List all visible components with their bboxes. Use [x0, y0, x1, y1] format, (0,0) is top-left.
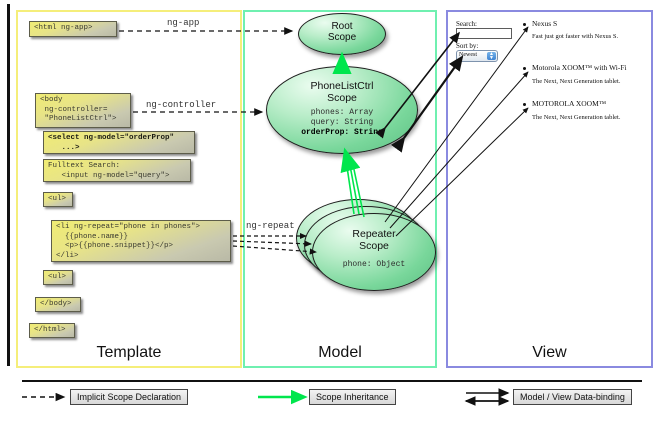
- edge-label-ng-controller: ng-controller: [146, 100, 216, 110]
- legend-label-scope-inheritance: Scope Inheritance: [309, 389, 396, 405]
- code-box-ul-close: <ul>: [43, 270, 73, 285]
- sort-by-selected-value: Newest: [459, 52, 477, 58]
- left-rail-divider: [7, 4, 10, 366]
- code-box-select-tag: <select ng-model="orderProp" ...>: [43, 131, 195, 154]
- view-sort-label: Sort by:: [456, 42, 478, 50]
- phone-item-name[interactable]: MOTOROLA XOOM™: [532, 99, 606, 108]
- scope-root-title-2: Scope: [299, 32, 385, 43]
- legend-label-implicit-scope-declaration: Implicit Scope Declaration: [70, 389, 188, 405]
- edge-label-ng-repeat: ng-repeat: [246, 221, 295, 231]
- legend-glyph-model-view-data-binding: [466, 393, 508, 401]
- scope-repeater-prop-phone: phone: Object: [313, 260, 435, 270]
- code-box-html-close: </html>: [29, 323, 75, 338]
- scope-repeater-title-2: Scope: [313, 240, 435, 252]
- phone-item-name[interactable]: Nexus S: [532, 19, 557, 28]
- scope-repeater-title-1: Repeater: [313, 228, 435, 240]
- panel-model-title: Model: [245, 344, 435, 362]
- panel-template: Template: [16, 10, 242, 368]
- phone-item-snippet: The Next, Next Generation tablet.: [532, 78, 620, 85]
- panel-model: Model: [243, 10, 437, 368]
- list-bullet-icon: [523, 103, 526, 106]
- scope-root-title-1: Root: [299, 21, 385, 32]
- view-search-label: Search:: [456, 20, 477, 28]
- code-box-html-open: <html ng-app>: [29, 21, 117, 37]
- list-bullet-icon: [523, 67, 526, 70]
- search-input[interactable]: [456, 28, 512, 39]
- scope-phonelistctrl-prop-orderprop: orderProp: String: [267, 128, 417, 138]
- code-box-ul-open: <ul>: [43, 192, 73, 207]
- edge-label-ng-app: ng-app: [167, 18, 199, 28]
- scope-repeater: Repeater Scope phone: Object: [312, 213, 436, 291]
- code-box-body-open: <body ng-controller= "PhoneListCtrl">: [35, 93, 131, 128]
- phone-item-snippet: The Next, Next Generation tablet.: [532, 114, 620, 121]
- phone-item-name[interactable]: Motorola XOOM™ with Wi-Fi: [532, 63, 627, 72]
- scope-phonelistctrl-title-1: PhoneListCtrl: [267, 80, 417, 92]
- code-box-search-input: Fulltext Search: <input ng-model="query"…: [43, 159, 191, 182]
- scope-phonelistctrl-prop-query: query: String: [267, 118, 417, 128]
- code-box-body-close: </body>: [35, 297, 81, 312]
- list-bullet-icon: [523, 23, 526, 26]
- scope-phonelistctrl-prop-phones: phones: Array: [267, 108, 417, 118]
- legend-label-model-view-data-binding: Model / View Data-binding: [513, 389, 632, 405]
- diagram-canvas: Template <html ng-app> <body ng-controll…: [0, 0, 661, 425]
- code-box-li-repeat: <li ng-repeat="phone in phones"> {{phone…: [51, 220, 231, 262]
- panel-view-title: View: [448, 344, 651, 362]
- legend-separator-rule: [22, 380, 642, 382]
- sort-by-select[interactable]: Newest ▲▼: [456, 50, 498, 62]
- scope-phonelistctrl-title-2: Scope: [267, 92, 417, 104]
- scope-phonelistctrl: PhoneListCtrl Scope phones: Array query:…: [266, 66, 418, 154]
- scope-root: Root Scope: [298, 13, 386, 55]
- panel-template-title: Template: [18, 344, 240, 362]
- chevron-updown-icon[interactable]: ▲▼: [487, 52, 496, 60]
- phone-item-snippet: Fast just got faster with Nexus S.: [532, 33, 618, 40]
